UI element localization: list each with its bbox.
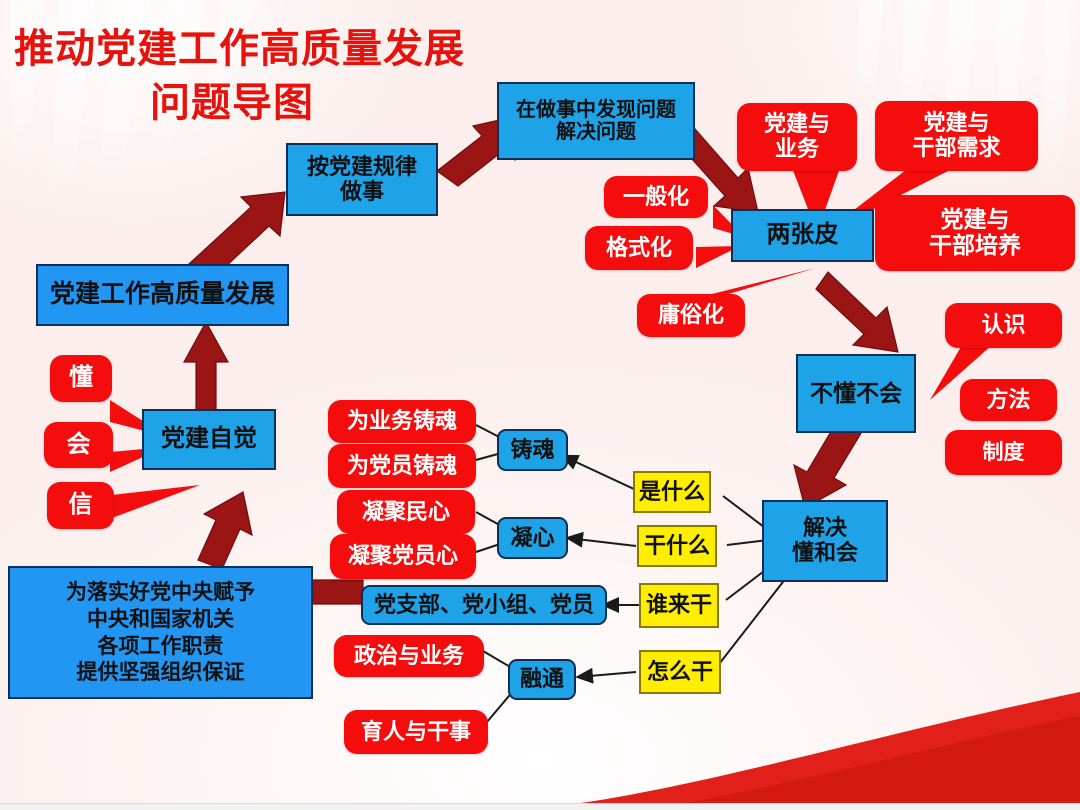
- node-dangjian-yu-ganbu-xuqiu[interactable]: 党建与 干部需求: [875, 101, 1038, 171]
- page-title-line1: 推动党建工作高质量发展: [14, 16, 465, 74]
- node-yongsuhua[interactable]: 庸俗化: [637, 294, 745, 337]
- node-yibanhua[interactable]: 一般化: [604, 176, 708, 218]
- node-zhuhun[interactable]: 铸魂: [497, 429, 568, 471]
- node-zhidu[interactable]: 制度: [945, 430, 1062, 475]
- node-dangjian-zijue[interactable]: 党建自觉: [142, 409, 276, 470]
- node-zuoshi-faxian-wenti[interactable]: 在做事中发现问题 解决问题: [497, 82, 695, 160]
- node-gan-shenme[interactable]: 干什么: [637, 525, 717, 567]
- node-renshi[interactable]: 认识: [945, 303, 1062, 348]
- bottom-edge-line: [0, 803, 1080, 810]
- node-dangzhibu-dangxiaozu-dangyuan[interactable]: 党支部、党小组、党员: [361, 585, 607, 625]
- node-budong-buhui[interactable]: 不懂不会: [796, 354, 916, 433]
- node-dangjian-yu-ganbu-peiyang[interactable]: 党建与 干部培养: [875, 195, 1075, 271]
- page-title-line2: 问题导图: [150, 70, 314, 128]
- node-yuren-yu-ganshi[interactable]: 育人与干事: [344, 710, 488, 754]
- node-hui[interactable]: 会: [44, 422, 113, 468]
- node-liangzhangpi[interactable]: 两张皮: [731, 209, 874, 262]
- node-ningju-dangyuanxin[interactable]: 凝聚党员心: [330, 534, 476, 579]
- diagram-canvas: 推动党建工作高质量发展 问题导图: [0, 0, 1080, 810]
- node-shi-shenme[interactable]: 是什么: [633, 471, 711, 513]
- node-xin[interactable]: 信: [47, 482, 114, 529]
- node-wei-yewu-zhuhun[interactable]: 为业务铸魂: [328, 400, 476, 443]
- node-fangfa[interactable]: 方法: [960, 379, 1057, 421]
- node-zenme-gan[interactable]: 怎么干: [639, 650, 721, 694]
- node-dangjian-yu-yewu[interactable]: 党建与 业务: [737, 103, 857, 171]
- node-zhengzhi-yu-yewu[interactable]: 政治与业务: [334, 635, 484, 677]
- node-wei-dangyuan-zhuhun[interactable]: 为党员铸魂: [328, 444, 476, 488]
- node-ningxin[interactable]: 凝心: [497, 517, 568, 559]
- node-dangjian-gaozhiliang[interactable]: 党建工作高质量发展: [36, 264, 289, 326]
- node-shui-lai-gan[interactable]: 谁来干: [639, 583, 719, 628]
- node-geshihua[interactable]: 格式化: [585, 226, 693, 270]
- node-luoshi-zhize[interactable]: 为落实好党中央赋予 中央和国家机关 各项工作职责 提供坚强组织保证: [8, 566, 313, 699]
- node-dong[interactable]: 懂: [50, 355, 112, 402]
- bottom-red-swoosh: [520, 670, 1080, 810]
- node-an-dangjian-guilv[interactable]: 按党建规律 做事: [286, 143, 438, 216]
- node-rongtong[interactable]: 融通: [508, 659, 576, 700]
- node-ningju-minxin[interactable]: 凝聚民心: [337, 490, 475, 534]
- node-jiejue-dong-he-hui[interactable]: 解决 懂和会: [762, 500, 888, 582]
